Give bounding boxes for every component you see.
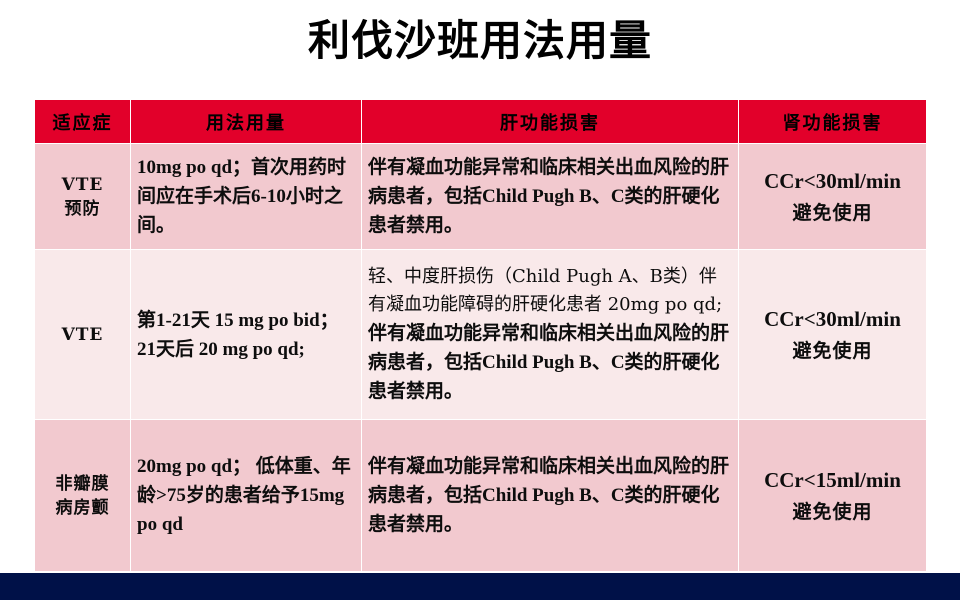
kidney-line-2: 避免使用 <box>745 197 920 229</box>
cell-dosage: 10mg po qd；首次用药时间应在手术后6-10小时之间。 <box>131 144 362 250</box>
cell-liver: 伴有凝血功能异常和临床相关出血风险的肝病患者，包括Child Pugh B、C类… <box>362 420 739 572</box>
table-header-row: 适应症 用法用量 肝功能损害 肾功能损害 <box>35 100 927 144</box>
indication-line-2: 病房颤 <box>56 498 110 518</box>
footer-bar <box>0 573 960 600</box>
cell-dosage: 20mg po qd； 低体重、年龄>75岁的患者给予15mg po qd <box>131 420 362 572</box>
liver-text-primary: 轻、中度肝损伤（Child Pugh A、B类）伴有凝血功能障碍的肝硬化患者 2… <box>368 263 732 319</box>
liver-text-secondary: 伴有凝血功能异常和临床相关出血风险的肝病患者，包括Child Pugh B、C类… <box>368 319 732 406</box>
table-row: VTE 第1-21天 15 mg po bid； 21天后 20 mg po q… <box>35 250 927 420</box>
indication-line-1: VTE <box>62 175 104 195</box>
slide-canvas: 利伐沙班用法用量 适应症 用法用量 肝功能损害 肾功能损害 VTE 预防 10m… <box>0 0 960 600</box>
column-header-kidney: 肾功能损害 <box>739 100 927 144</box>
cell-liver: 轻、中度肝损伤（Child Pugh A、B类）伴有凝血功能障碍的肝硬化患者 2… <box>362 250 739 420</box>
column-header-indication: 适应症 <box>35 100 131 144</box>
cell-kidney: CCr<30ml/min 避免使用 <box>739 250 927 420</box>
indication-line-1: VTE <box>62 325 104 345</box>
kidney-line-2: 避免使用 <box>745 335 920 367</box>
cell-indication: 非瓣膜 病房颤 <box>35 420 131 572</box>
kidney-line-1: CCr<15ml/min <box>764 468 901 492</box>
kidney-line-1: CCr<30ml/min <box>764 169 901 193</box>
kidney-line-1: CCr<30ml/min <box>764 307 901 331</box>
kidney-line-2: 避免使用 <box>745 496 920 528</box>
table-header: 适应症 用法用量 肝功能损害 肾功能损害 <box>35 100 927 144</box>
cell-indication: VTE 预防 <box>35 144 131 250</box>
cell-kidney: CCr<15ml/min 避免使用 <box>739 420 927 572</box>
table-body: VTE 预防 10mg po qd；首次用药时间应在手术后6-10小时之间。 伴… <box>35 144 927 572</box>
indication-line-2: 预防 <box>65 199 101 219</box>
liver-text-secondary: 伴有凝血功能异常和临床相关出血风险的肝病患者，包括Child Pugh B、C类… <box>368 153 732 240</box>
dosage-table: 适应症 用法用量 肝功能损害 肾功能损害 VTE 预防 10mg po qd；首… <box>34 99 927 572</box>
cell-kidney: CCr<30ml/min 避免使用 <box>739 144 927 250</box>
column-header-dosage: 用法用量 <box>131 100 362 144</box>
column-header-liver: 肝功能损害 <box>362 100 739 144</box>
cell-dosage: 第1-21天 15 mg po bid； 21天后 20 mg po qd; <box>131 250 362 420</box>
liver-text-secondary: 伴有凝血功能异常和临床相关出血风险的肝病患者，包括Child Pugh B、C类… <box>368 452 732 539</box>
cell-indication: VTE <box>35 250 131 420</box>
cell-liver: 伴有凝血功能异常和临床相关出血风险的肝病患者，包括Child Pugh B、C类… <box>362 144 739 250</box>
page-title: 利伐沙班用法用量 <box>0 14 960 68</box>
table-row: 非瓣膜 病房颤 20mg po qd； 低体重、年龄>75岁的患者给予15mg … <box>35 420 927 572</box>
table-row: VTE 预防 10mg po qd；首次用药时间应在手术后6-10小时之间。 伴… <box>35 144 927 250</box>
indication-line-1: 非瓣膜 <box>56 474 110 494</box>
